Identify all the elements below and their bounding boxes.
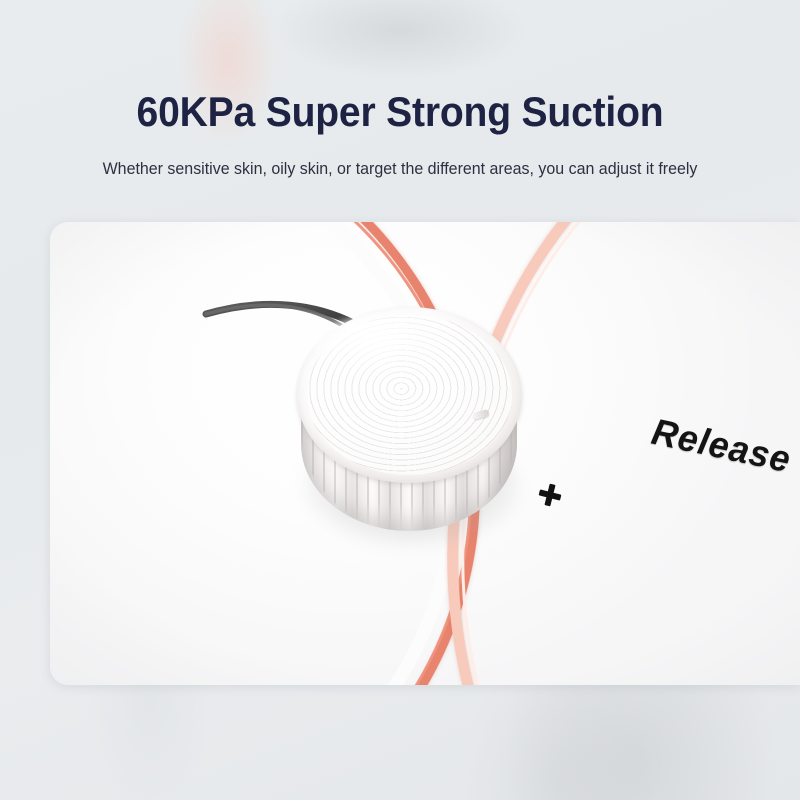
page-subtitle: Whether sensitive skin, oily skin, or ta… — [24, 159, 776, 179]
product-feature-banner: 60KPa Super Strong Suction Whether sensi… — [0, 0, 800, 800]
suction-adjustment-dial[interactable] — [297, 307, 522, 539]
page-title: 60KPa Super Strong Suction — [28, 88, 772, 136]
product-photo-card: Release — [50, 222, 800, 685]
dial-highlight — [313, 313, 463, 383]
